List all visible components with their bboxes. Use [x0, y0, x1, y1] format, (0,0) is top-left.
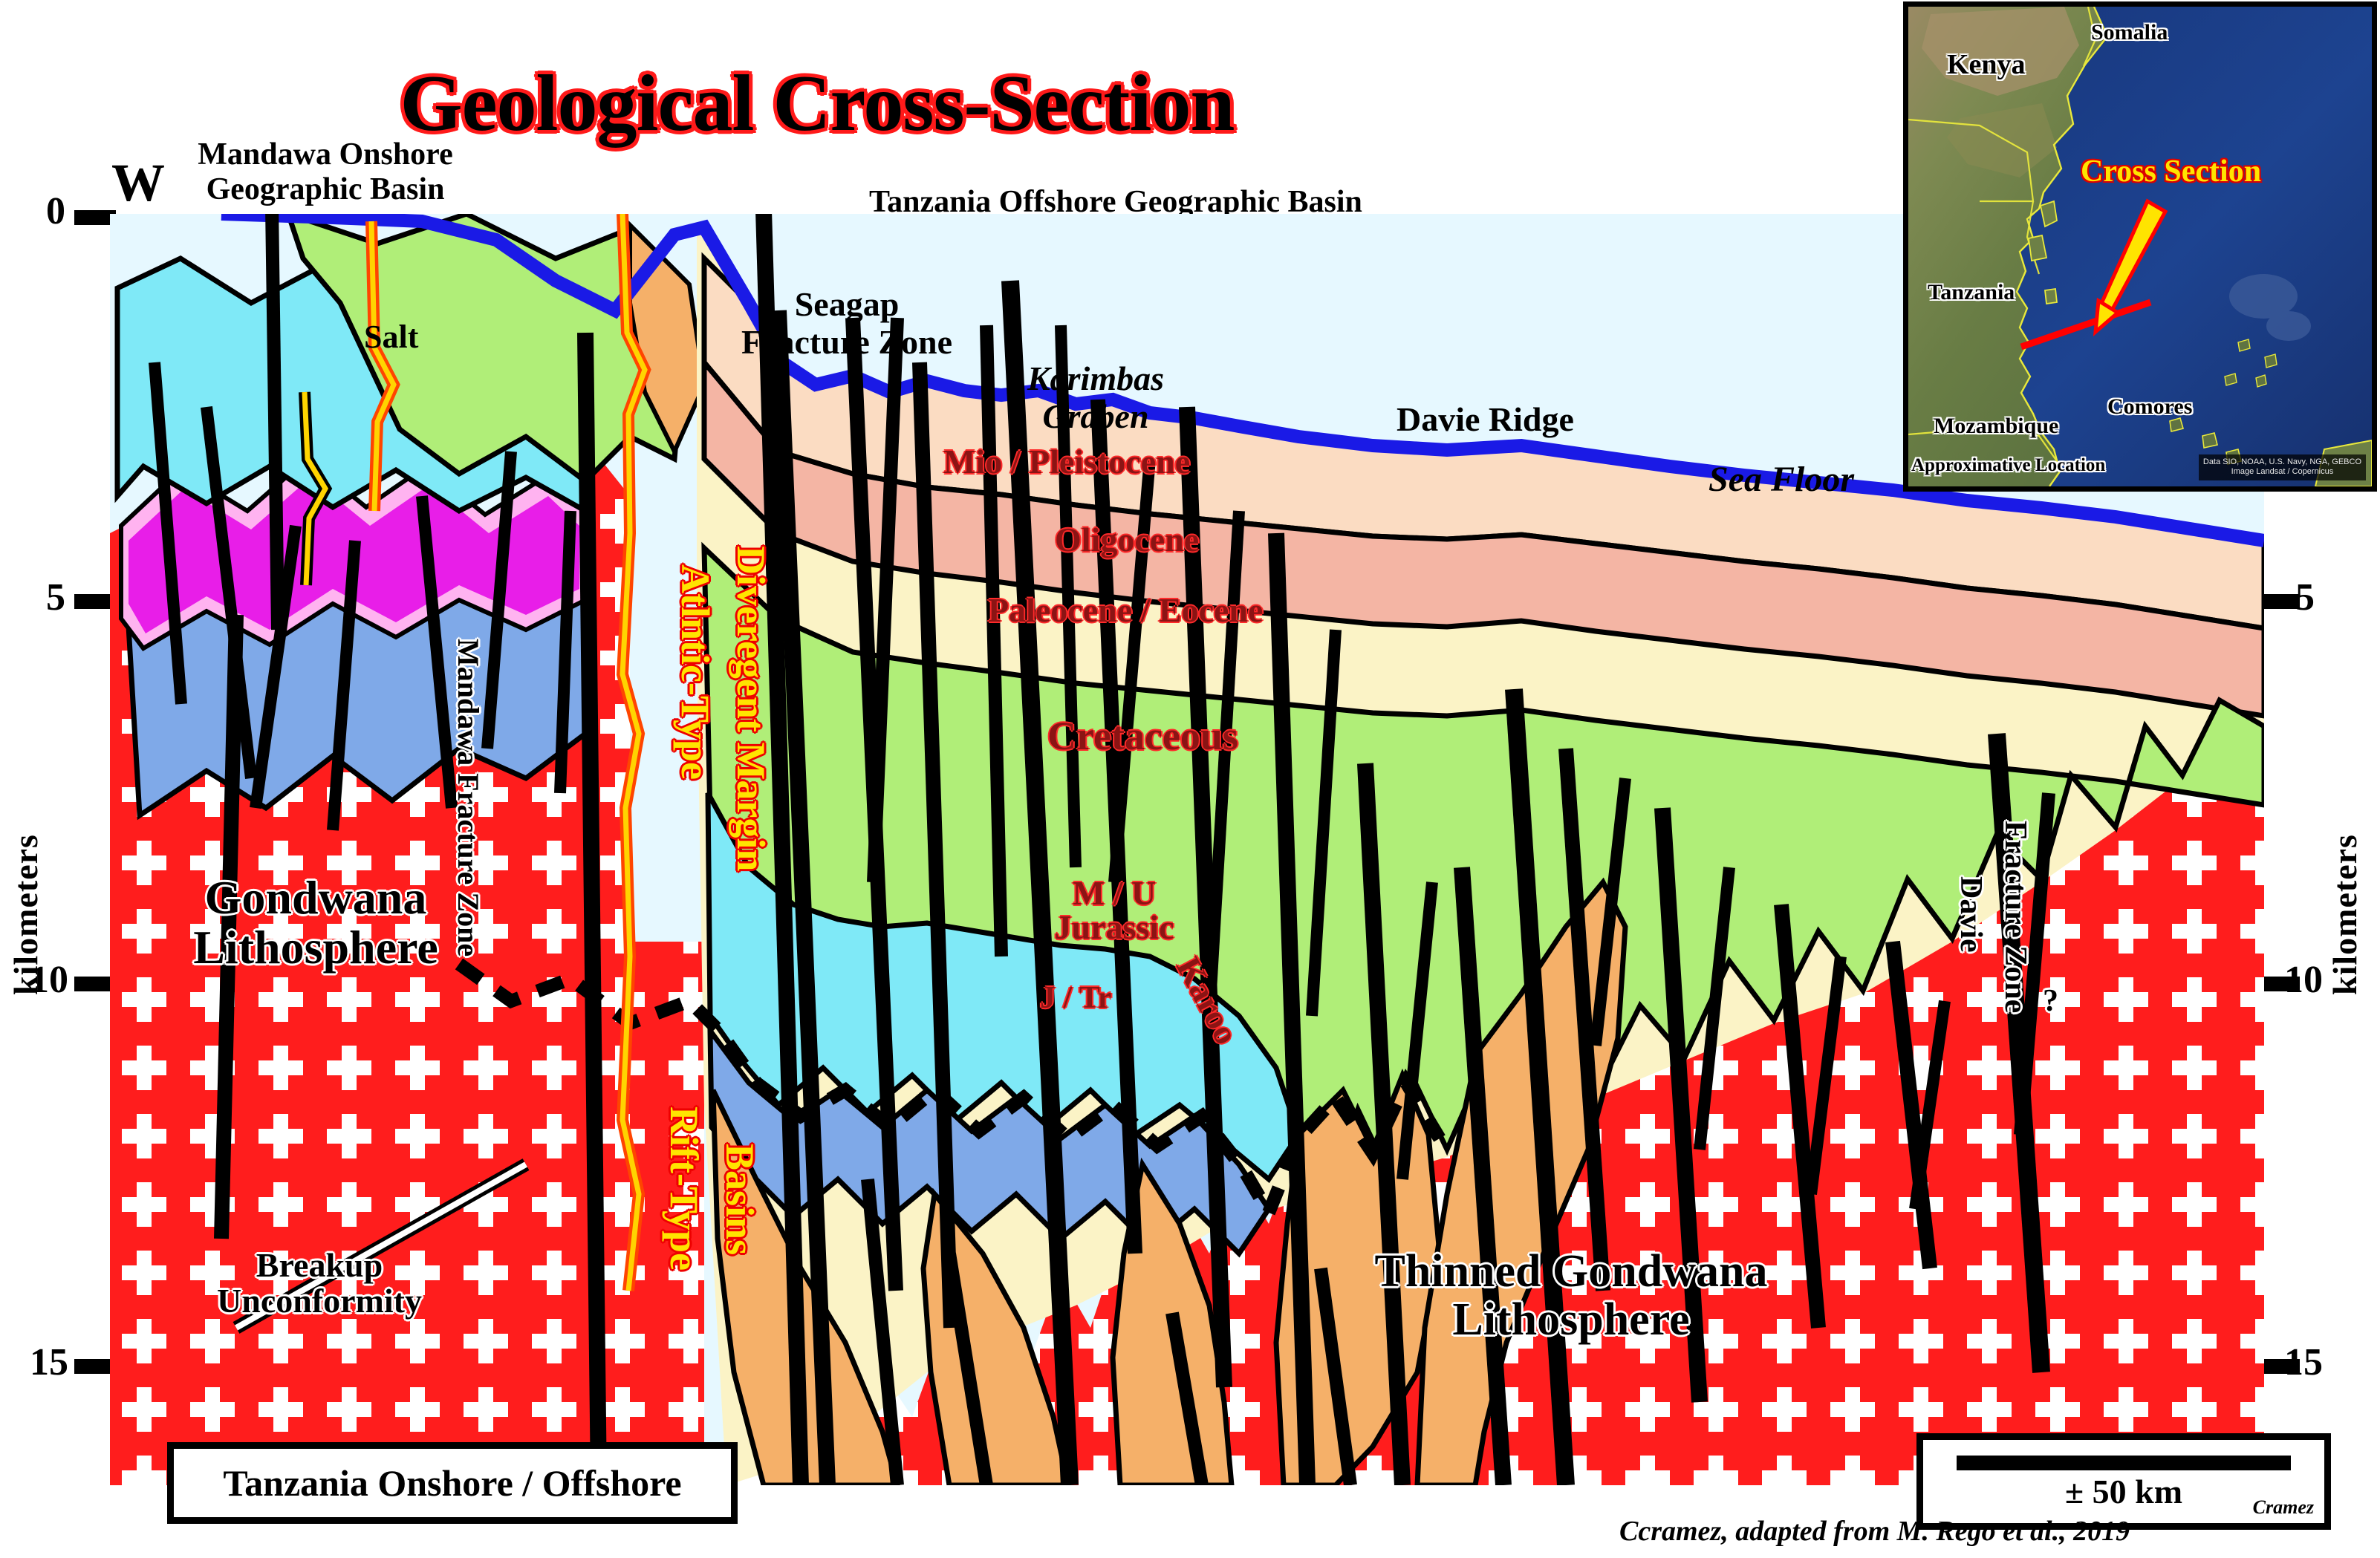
stratum-label-cretaceous: Cretaceous: [1047, 713, 1238, 759]
map-attribution: Data SIO, NOAA, U.S. Navy, NGA, GEBCO Im…: [2199, 454, 2366, 481]
breakup-line2: Unconformity: [215, 1283, 423, 1319]
west-marker: W: [111, 152, 165, 214]
section-title-box: Tanzania Onshore / Offshore: [167, 1442, 738, 1524]
sea-floor-label: Sea Floor: [1708, 460, 1854, 500]
thinned-line1: Thinned Gondwana: [1330, 1248, 1812, 1296]
scale-author: Cramez: [2253, 1496, 2314, 1519]
scale-bar: [1957, 1456, 2291, 1470]
axis-label-left: kilometers: [6, 735, 45, 995]
stratum-label-oligocene: Oligocene: [1055, 520, 1199, 559]
axis-label-right: kilometers: [2325, 735, 2364, 995]
mandawa-fracture-zone-label: Mandawa Fracture Zone: [452, 639, 484, 956]
stratum-label-paleocene-eocene: Paleocene / Eocene: [988, 590, 1263, 630]
section-title-text: Tanzania Onshore / Offshore: [223, 1461, 681, 1505]
gondwana-line2: Lithosphere: [160, 922, 472, 972]
stratum-label-mu-jurassic: M / U Jurassic: [1029, 876, 1200, 945]
davie-fracture-zone-line2: Fracture Zone: [1998, 821, 2032, 1013]
stratum-label-mio-pleistocene: Mio / Pleistocene: [943, 442, 1190, 481]
mu-jurassic-text: M / U Jurassic: [1055, 874, 1174, 946]
davie-ridge-label: Davie Ridge: [1397, 401, 1574, 439]
thinned-line2: Lithosphere: [1330, 1296, 1812, 1344]
credit-line: Ccramez, adapted from M. Rego et al., 20…: [1619, 1515, 2130, 1548]
breakup-unconformity-label: Breakup Unconformity: [215, 1248, 423, 1320]
map-label-mozambique: Mozambique: [1934, 414, 2058, 439]
onshore-basin-line1: Mandawa Onshore: [184, 137, 466, 172]
stratum-label-j-tr: J / Tr: [1040, 980, 1111, 1016]
map-label-cross-section: Cross Section: [2081, 154, 2261, 189]
salt-label: Salt: [364, 319, 418, 355]
karimbas-line1: Karimbas: [1003, 360, 1189, 398]
seagap-fracture-zone-label: Seagap Fracture Zone: [728, 286, 966, 361]
breakup-line1: Breakup: [215, 1248, 423, 1283]
gondwana-line1: Gondwana: [160, 873, 472, 922]
seagap-line1: Seagap: [728, 286, 966, 324]
karimbas-line2: Graben: [1003, 398, 1189, 436]
axis-tick-left-15: 15: [30, 1340, 68, 1384]
divergent-margin-label: Diveregent Margin: [728, 546, 774, 871]
map-label-tanzania: Tanzania: [1928, 280, 2015, 305]
page-title: Geological Cross-Section: [0, 58, 1634, 150]
basins-label: Basins: [717, 1144, 763, 1255]
map-label-approximative-location: Approximative Location: [1911, 455, 2105, 476]
inset-location-map[interactable]: Kenya Somalia Tanzania Mozambique Comore…: [1903, 1, 2377, 492]
attribution-line1: Data SIO, NOAA, U.S. Navy, NGA, GEBCO: [2203, 457, 2361, 468]
tick-mark: [2258, 1359, 2300, 1374]
onshore-basin-line2: Geographic Basin: [184, 172, 466, 207]
karimbas-graben-label: Karimbas Graben: [1003, 360, 1189, 435]
scale-label: ± 50 km: [2065, 1472, 2182, 1511]
seagap-line2: Fracture Zone: [728, 324, 966, 362]
davie-fracture-zone-line1: Davie: [1954, 876, 1988, 953]
thinned-gondwana-label: Thinned Gondwana Lithosphere: [1330, 1248, 1812, 1344]
map-label-kenya: Kenya: [1947, 48, 2026, 81]
atlantic-type-label: Atlntic-Type: [672, 564, 718, 780]
gondwana-lithosphere-label: Gondwana Lithosphere: [160, 873, 472, 972]
rift-type-label: Rift-Type: [661, 1106, 707, 1271]
tick-mark: [2258, 977, 2300, 991]
map-label-somalia: Somalia: [2091, 20, 2168, 45]
axis-tick-left-0: 0: [46, 189, 65, 233]
map-label-comores: Comores: [2107, 394, 2192, 420]
davie-fracture-zone-query: ?: [2043, 984, 2058, 1018]
attribution-line2: Image Landsat / Copernicus: [2203, 467, 2361, 477]
onshore-basin-label: Mandawa Onshore Geographic Basin: [184, 137, 466, 207]
axis-tick-left-5: 5: [46, 576, 65, 619]
tick-mark: [2258, 594, 2300, 609]
